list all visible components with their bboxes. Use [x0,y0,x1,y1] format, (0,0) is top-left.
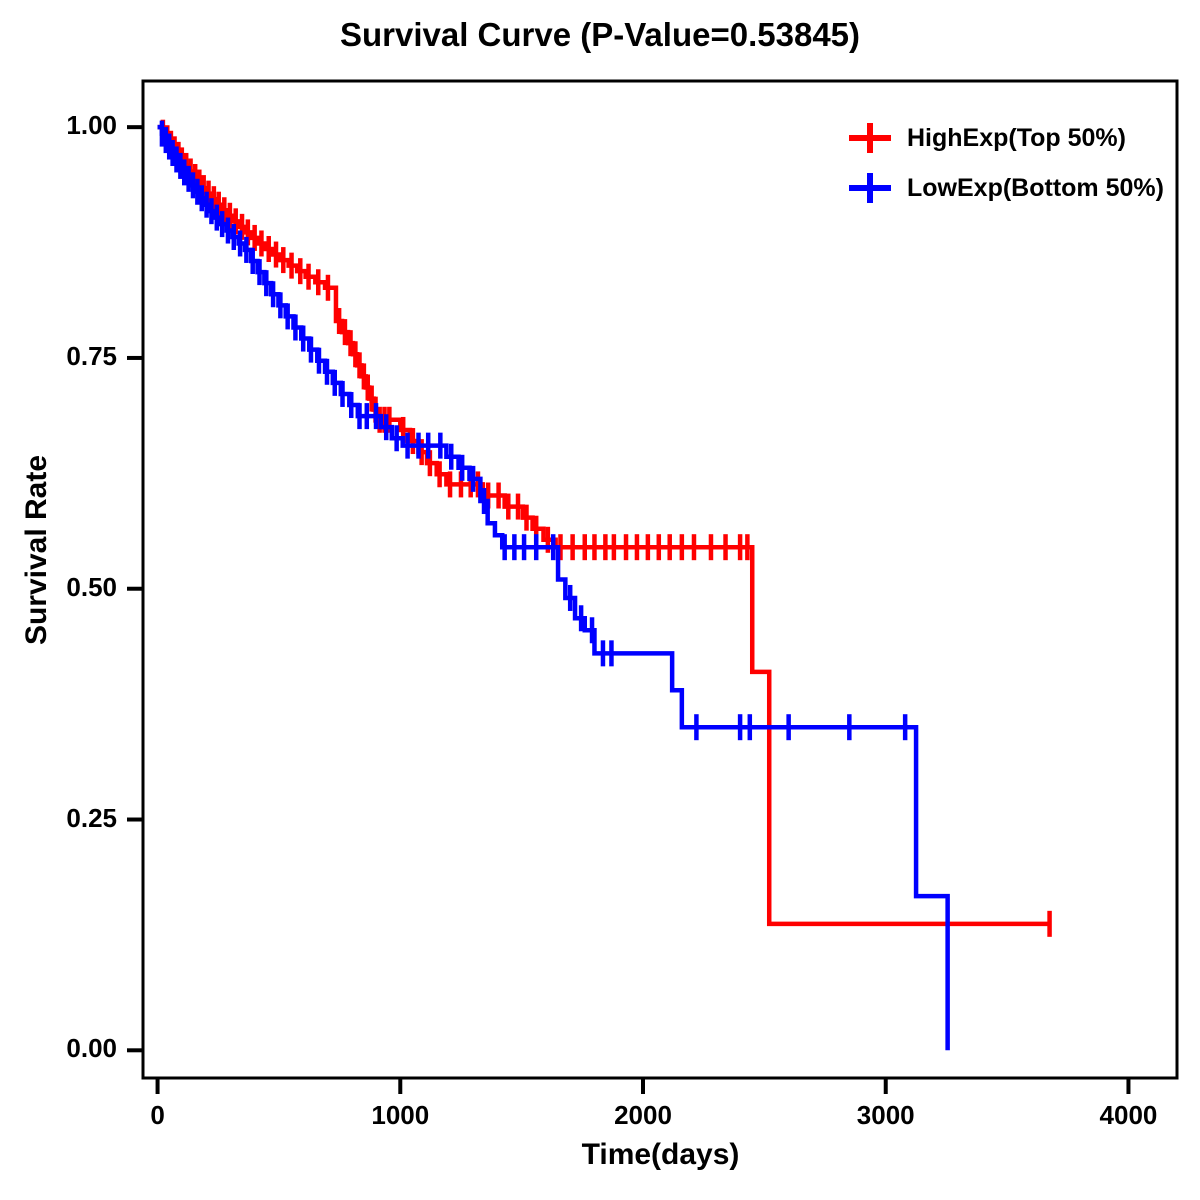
legend: HighExp(Top 50%) LowExp(Bottom 50%) [845,113,1175,213]
y-tick-label: 0.00 [0,1033,117,1064]
plus-marker-vertical [867,173,873,203]
x-tick-label: 1000 [340,1100,460,1131]
legend-label-highexp: HighExp(Top 50%) [907,124,1126,153]
x-tick-label: 4000 [1068,1100,1188,1131]
plus-marker-icon [845,168,895,208]
y-tick-label: 0.50 [0,572,117,603]
plus-marker-vertical [867,123,873,153]
x-tick-label: 2000 [583,1100,703,1131]
legend-label-lowexp: LowExp(Bottom 50%) [907,174,1164,203]
y-tick-label: 0.25 [0,803,117,834]
plus-marker-icon [845,118,895,158]
x-tick-label: 0 [98,1100,218,1131]
y-axis-label: Survival Rate [20,400,54,700]
survival-curve-figure: Survival Curve (P-Value=0.53845) Surviva… [0,0,1200,1200]
x-tick-label: 3000 [826,1100,946,1131]
legend-item-highexp[interactable]: HighExp(Top 50%) [845,113,1175,163]
x-axis-label: Time(days) [143,1138,1178,1172]
y-tick-label: 1.00 [0,110,117,141]
plot-frame [143,81,1177,1078]
y-tick-label: 0.75 [0,341,117,372]
legend-item-lowexp[interactable]: LowExp(Bottom 50%) [845,163,1175,213]
